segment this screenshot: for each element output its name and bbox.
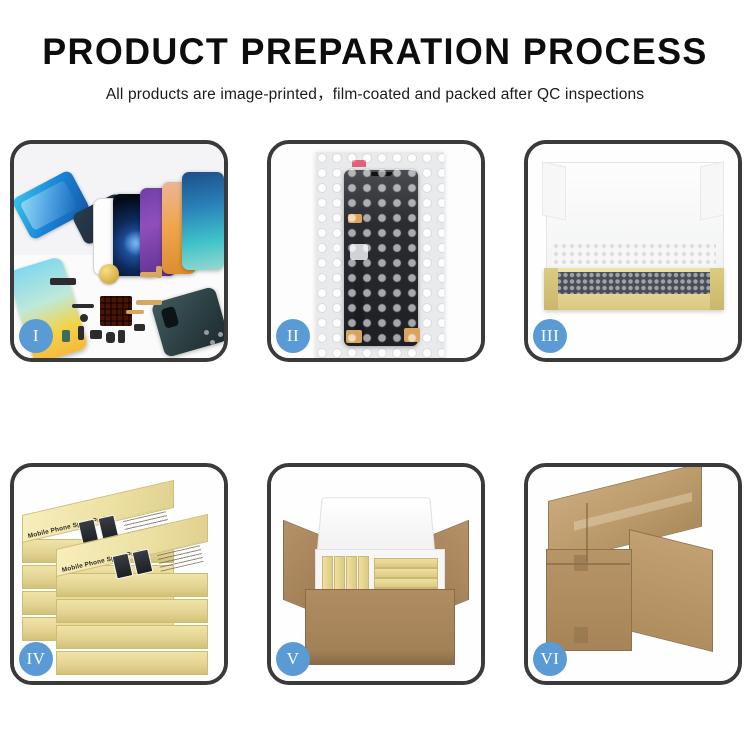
process-step-panel-1[interactable]: I <box>10 140 228 362</box>
process-step-panel-3[interactable]: III <box>524 140 742 362</box>
step-badge-1: I <box>19 319 53 353</box>
process-steps-grid: I II <box>10 140 742 685</box>
page-header: PRODUCT PREPARATION PROCESS All products… <box>0 0 750 104</box>
process-step-panel-5[interactable]: V <box>267 463 485 685</box>
process-step-panel-4[interactable]: Mobile Phone Spare Parts Mobile Phone Sp… <box>10 463 228 685</box>
step-badge-4: IV <box>19 642 53 676</box>
step-badge-6: VI <box>533 642 567 676</box>
page-subtitle: All products are image-printed，film-coat… <box>0 72 750 104</box>
process-step-panel-2[interactable]: II <box>267 140 485 362</box>
step-badge-2: II <box>276 319 310 353</box>
step-badge-3: III <box>533 319 567 353</box>
page-title: PRODUCT PREPARATION PROCESS <box>11 0 739 72</box>
process-step-panel-6[interactable]: VI <box>524 463 742 685</box>
step-badge-5: V <box>276 642 310 676</box>
